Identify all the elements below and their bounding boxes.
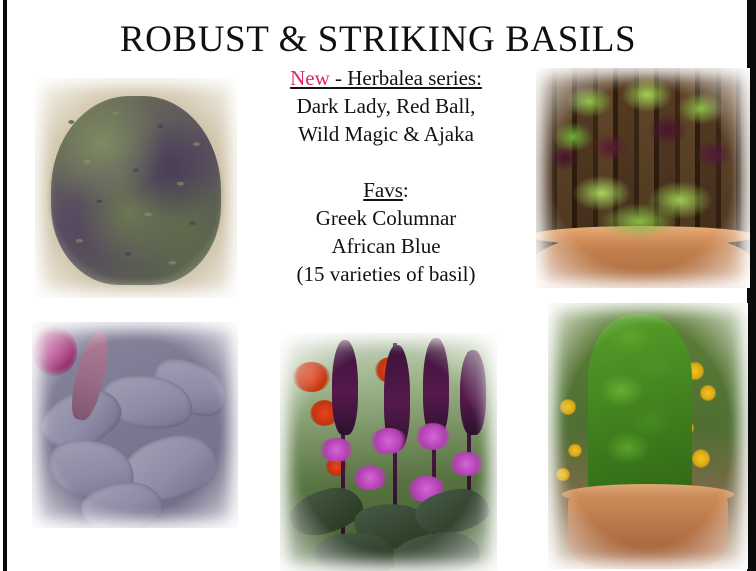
fav-varieties-count-note: (15 varieties of basil) (238, 260, 534, 288)
herbalea-heading-line: New - Herbalea series: (238, 64, 534, 92)
favs-heading-line: Favs: (238, 176, 534, 204)
photo-mixed-basil-container (536, 68, 750, 288)
photo-vignette (548, 303, 748, 569)
photo-vignette (280, 333, 497, 571)
photo-vignette (32, 322, 238, 528)
left-edge-band (3, 0, 7, 571)
photo-flowering-dark-basil (280, 333, 497, 571)
slide-body-text: New - Herbalea series: Dark Lady, Red Ba… (238, 64, 534, 288)
photo-columnar-basil-pot (548, 303, 748, 569)
fav-line-african-blue: African Blue (238, 232, 534, 260)
new-label: New (290, 66, 330, 90)
text-spacer (238, 148, 534, 176)
favs-colon: : (403, 178, 409, 202)
photo-basil-mound (35, 78, 237, 298)
favs-label: Favs (363, 178, 403, 202)
herbalea-varieties-line-2: Wild Magic & Ajaka (238, 120, 534, 148)
photo-vignette (35, 78, 237, 298)
photo-vignette (536, 68, 750, 288)
herbalea-series-label: - Herbalea series: (330, 66, 482, 90)
presentation-slide: ROBUST & STRIKING BASILS New - Herbalea … (0, 0, 756, 571)
photo-purple-basil-leaves (32, 322, 238, 528)
slide-title: ROBUST & STRIKING BASILS (0, 18, 756, 62)
herbalea-varieties-line-1: Dark Lady, Red Ball, (238, 92, 534, 120)
fav-line-greek-columnar: Greek Columnar (238, 204, 534, 232)
